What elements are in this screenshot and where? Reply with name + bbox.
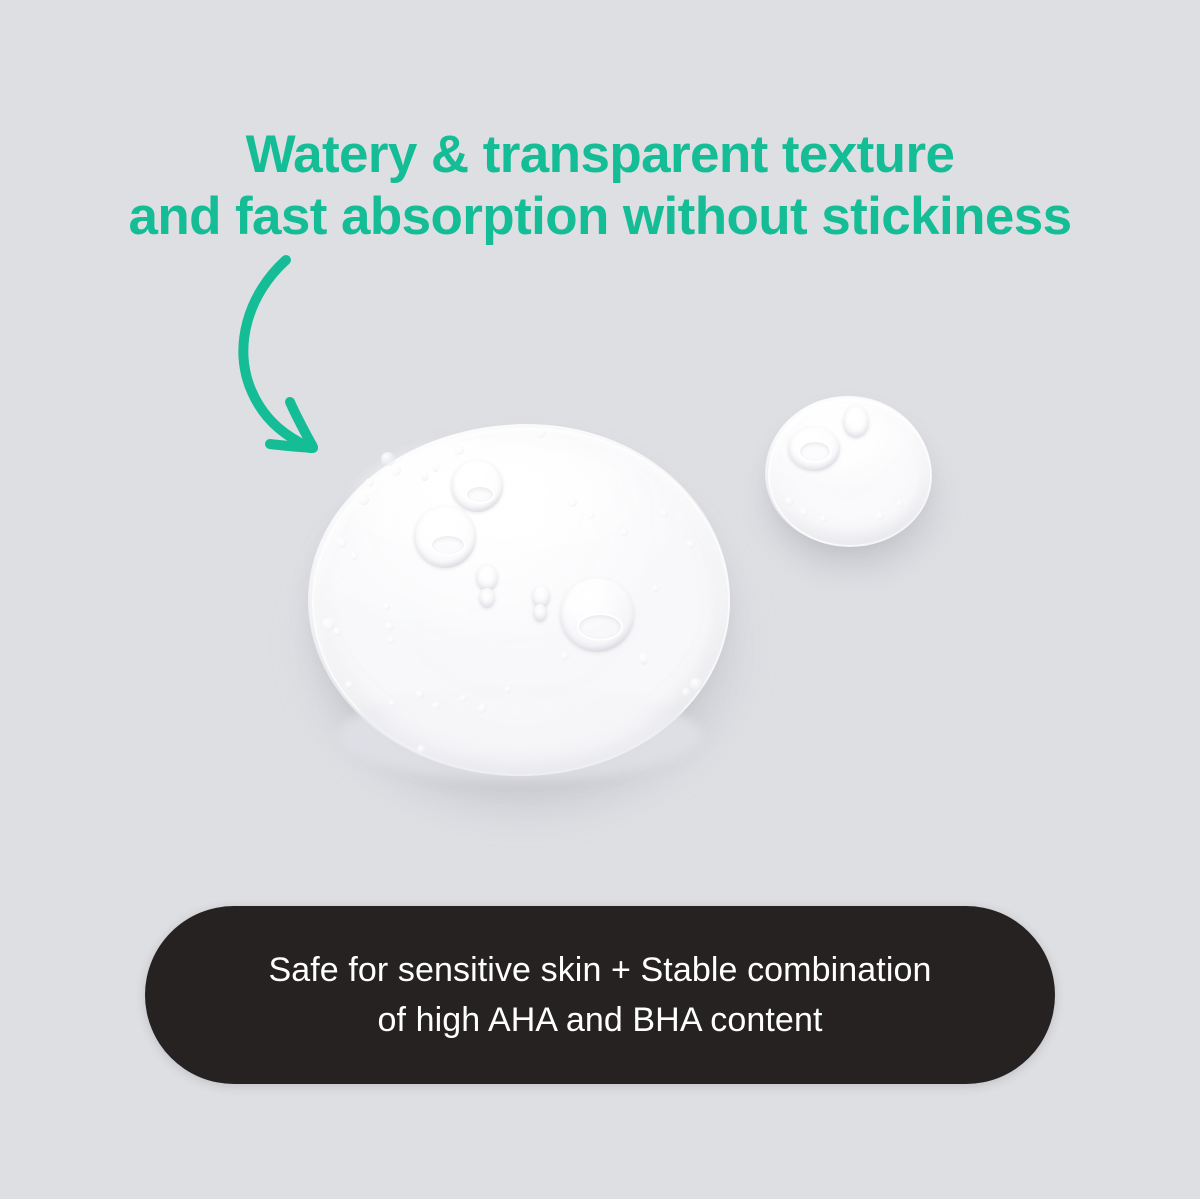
large-gel-droplet [308,424,730,776]
product-infographic-poster: Watery & transparent texture and fast ab… [0,0,1200,1199]
small-gel-droplet [765,396,931,546]
claim-line-2: of high AHA and BHA content [377,995,822,1045]
claim-banner: Safe for sensitive skin + Stable combina… [145,906,1055,1084]
claim-line-1: Safe for sensitive skin + Stable combina… [268,945,931,995]
